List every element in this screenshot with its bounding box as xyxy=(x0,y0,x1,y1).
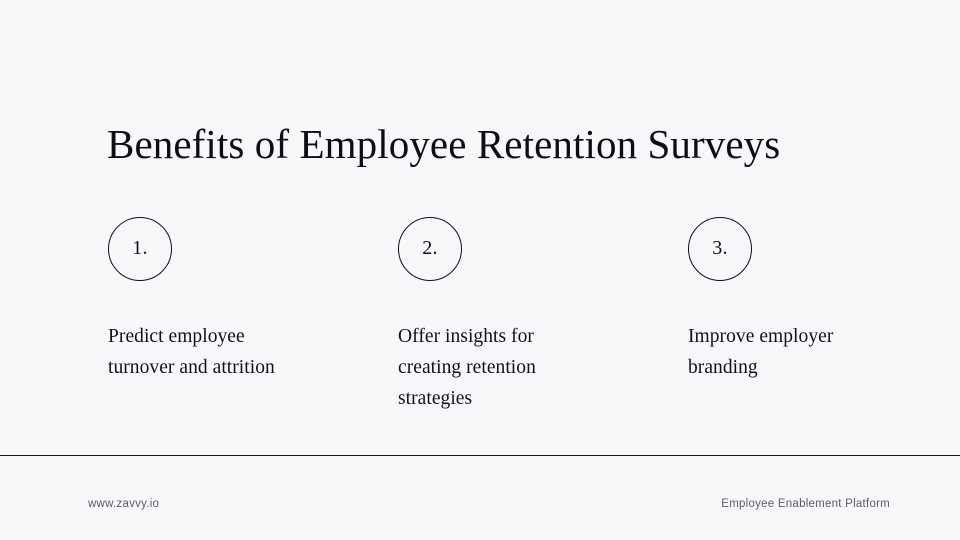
number-badge-label: 1. xyxy=(132,238,148,258)
number-badge-1: 1. xyxy=(108,217,172,281)
benefit-item-3: 3. Improve employer branding xyxy=(688,217,950,383)
footer-website-link[interactable]: www.zavvy.io xyxy=(88,497,159,511)
benefit-description-3: Improve employer branding xyxy=(688,321,950,383)
benefit-item-2: 2. Offer insights for creating retention… xyxy=(398,217,660,414)
number-badge-label: 2. xyxy=(422,238,438,258)
number-badge-2: 2. xyxy=(398,217,462,281)
slide-canvas: Benefits of Employee Retention Surveys 1… xyxy=(0,0,960,540)
number-badge-label: 3. xyxy=(712,238,728,258)
benefit-description-2: Offer insights for creating retention st… xyxy=(398,321,660,414)
benefit-description-1: Predict employee turnover and attrition xyxy=(108,321,370,383)
number-badge-3: 3. xyxy=(688,217,752,281)
slide-footer: www.zavvy.io Employee Enablement Platfor… xyxy=(0,455,960,540)
benefit-item-1: 1. Predict employee turnover and attriti… xyxy=(108,217,370,383)
footer-tagline: Employee Enablement Platform xyxy=(721,497,890,511)
